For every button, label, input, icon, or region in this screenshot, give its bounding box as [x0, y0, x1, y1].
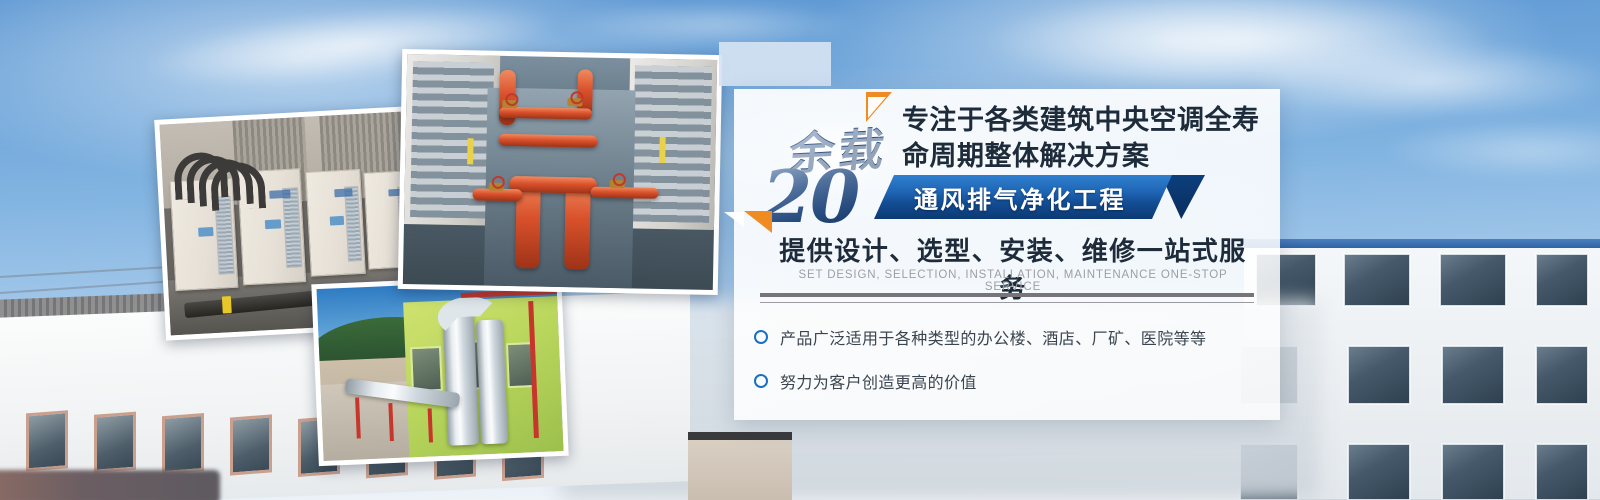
service-ribbon: 通风排气净化工程 [874, 175, 1172, 219]
ribbon-label: 通风排气净化工程 [874, 175, 1172, 219]
bullet-list: 产品广泛适用于各种类型的办公楼、酒店、厂矿、医院等等 努力为客户创造更高的价值 [754, 325, 1264, 413]
years-number: 20 [762, 161, 858, 233]
list-item: 努力为客户创造更高的价值 [754, 369, 1264, 393]
divider-thick [760, 293, 1254, 297]
loading-dock-door [688, 432, 792, 500]
chevron-arrow-icon [744, 211, 772, 233]
circle-ring-icon [754, 330, 768, 344]
circle-ring-icon [754, 374, 768, 388]
promo-banner: 余载 20 专注于各类建筑中央空调全寿命周期整体解决方案 通风排气净化工程 提供… [0, 0, 1600, 500]
photo-chiller-plant-piping [398, 49, 723, 295]
panel-accent-square [719, 42, 831, 86]
photo-rooftop-duct-run [311, 274, 568, 466]
chevron-arrow-icon [866, 92, 892, 122]
headline: 专注于各类建筑中央空调全寿命周期整体解决方案 [902, 103, 1274, 174]
content-panel: 余载 20 专注于各类建筑中央空调全寿命周期整体解决方案 通风排气净化工程 提供… [734, 89, 1280, 420]
bullet-text: 努力为客户创造更高的价值 [780, 369, 977, 393]
subtitle-en: SET DESIGN, SELECTION, INSTALLATION, MAI… [770, 269, 1256, 293]
cloud-wisp [1240, 40, 1600, 120]
bullet-text: 产品广泛适用于各种类型的办公楼、酒店、厂矿、医院等等 [780, 325, 1206, 349]
cloud-wisp [1380, 120, 1600, 180]
divider-thin [760, 302, 1254, 303]
list-item: 产品广泛适用于各种类型的办公楼、酒店、厂矿、医院等等 [754, 325, 1264, 349]
parked-cars [0, 470, 220, 500]
